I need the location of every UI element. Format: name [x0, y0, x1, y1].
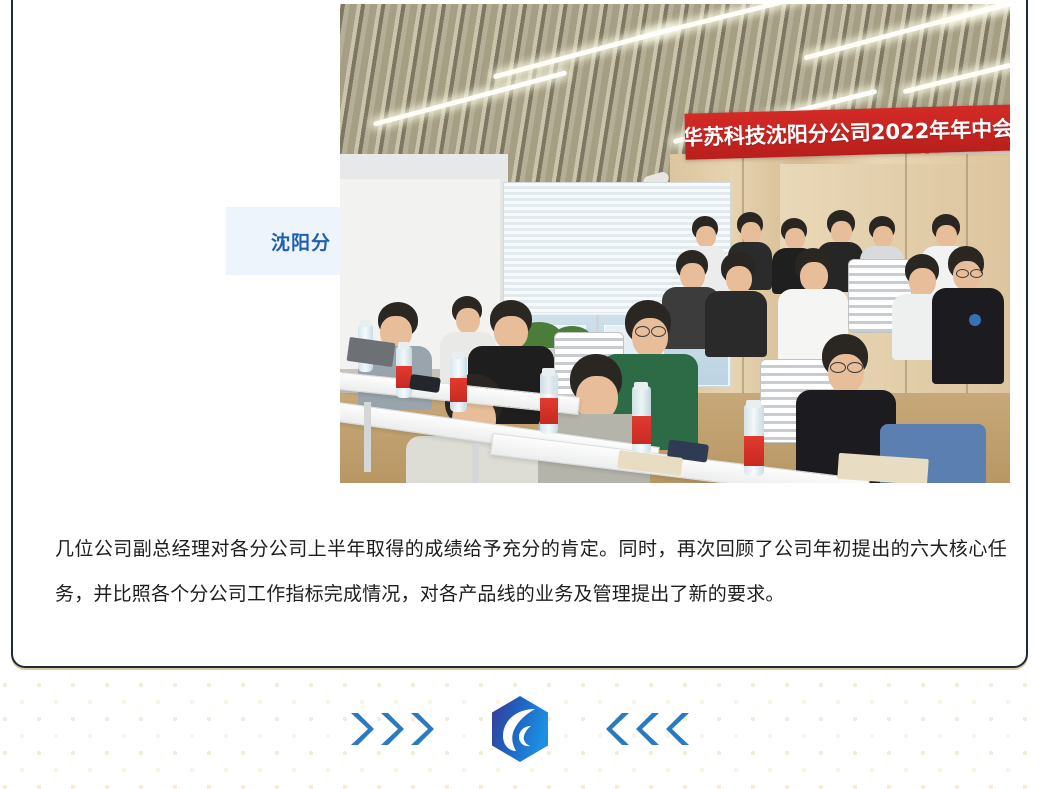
chevron-left-icon [636, 710, 662, 748]
bottle-cap [746, 400, 761, 408]
person-face [909, 268, 936, 297]
bottle-label [744, 436, 764, 466]
content-card: 沈阳分 华苏科技沈阳分公司2022年年中会议 [11, 0, 1028, 668]
chevron-left-icon [666, 710, 692, 748]
person-face [831, 221, 852, 244]
bottle-cap [360, 320, 371, 327]
table-leg [364, 402, 371, 472]
person-face [726, 266, 752, 294]
footer-decoration [0, 668, 1040, 789]
huasu-hexagon-logo [490, 695, 550, 763]
notebook [837, 453, 929, 483]
chevron-right-icon [378, 710, 404, 748]
bottle-label [632, 416, 651, 444]
table-leg [472, 444, 479, 483]
eyeglasses [847, 362, 863, 373]
eyeglasses [830, 362, 846, 373]
person-face [696, 226, 716, 248]
person-face [680, 263, 705, 290]
chevrons-left-group [606, 710, 692, 748]
person-face [741, 222, 761, 244]
person-body [932, 288, 1004, 384]
eyeglasses [635, 326, 650, 337]
bottle-label [540, 398, 558, 424]
person-face [828, 354, 864, 394]
meeting-banner-text: 华苏科技沈阳分公司2022年年中会议 [684, 112, 1010, 152]
chevron-left-icon [606, 710, 632, 748]
logo-emblem [969, 314, 981, 326]
bottle-cap [452, 352, 464, 359]
person-face [456, 308, 480, 334]
chevron-right-icon [408, 710, 434, 748]
bottle-cap [634, 382, 648, 390]
conference-room-photo: 华苏科技沈阳分公司2022年年中会议 [340, 4, 1010, 483]
person-face [785, 228, 805, 250]
bottle-cap [542, 368, 555, 376]
eyeglasses [970, 269, 983, 278]
bottle-cap [398, 342, 409, 349]
person-face [936, 225, 957, 248]
article-paragraph: 几位公司副总经理对各分公司上半年取得的成绩给予充分的肯定。同时，再次回顾了公司年… [55, 527, 1007, 617]
bottle-label [450, 378, 467, 402]
person-face [632, 318, 668, 358]
person-face [873, 226, 893, 248]
person-face [494, 316, 528, 350]
person-body [705, 291, 767, 357]
chevrons-right-group [348, 710, 434, 748]
branch-label-text: 沈阳分 [271, 228, 331, 255]
eyeglasses [956, 269, 969, 278]
eyeglasses [651, 326, 666, 337]
chevron-right-icon [348, 710, 374, 748]
meeting-banner: 华苏科技沈阳分公司2022年年中会议 [684, 104, 1010, 159]
person-face [800, 262, 828, 292]
